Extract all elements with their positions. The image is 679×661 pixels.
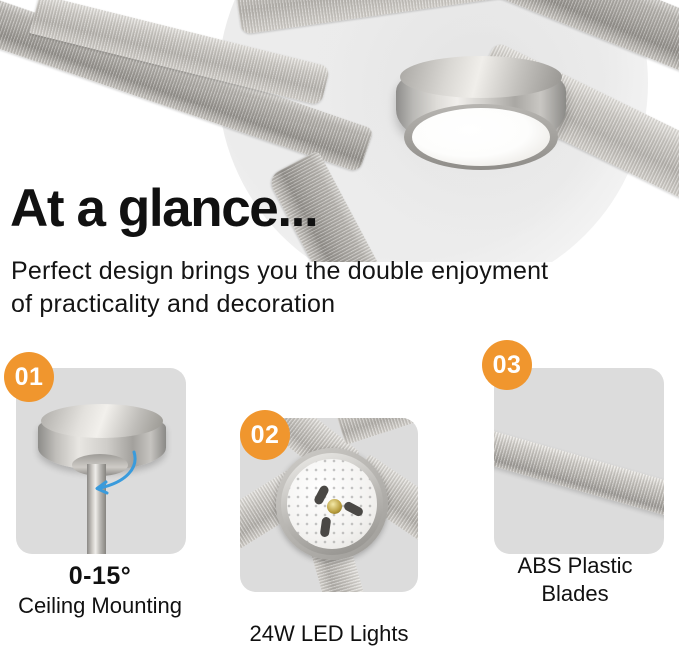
led-blade-2 xyxy=(333,418,418,445)
led-light-module xyxy=(276,448,388,560)
page-subtitle: Perfect design brings you the double enj… xyxy=(11,255,571,321)
feature-image-card-03 xyxy=(494,368,664,554)
feature-caption-01: 0-15° Ceiling Mounting xyxy=(0,560,200,620)
led-clip-2 xyxy=(343,500,365,517)
canopy-top-disc xyxy=(41,404,163,438)
feature-badge-01: 01 xyxy=(4,352,54,402)
feature-caption-02: 24W LED Lights xyxy=(228,620,430,648)
housing-top-disc xyxy=(400,56,562,98)
feature-caption-03: ABS Plastic Blades xyxy=(472,552,678,608)
feature-badge-02: 02 xyxy=(240,410,290,460)
page-title: At a glance... xyxy=(10,182,317,235)
abs-plastic-blade-image xyxy=(494,423,664,521)
feature-badge-03: 03 xyxy=(482,340,532,390)
led-clip-3 xyxy=(320,516,332,537)
infographic-page: At a glance... Perfect design brings you… xyxy=(0,0,679,661)
feature-caption-01-primary: 0-15° xyxy=(0,560,200,592)
hero-light-housing xyxy=(396,60,566,172)
tilt-angle-arrow-icon xyxy=(82,446,144,504)
feature-caption-02-secondary: 24W LED Lights xyxy=(228,620,430,648)
feature-caption-03-line1: ABS Plastic xyxy=(472,552,678,580)
led-center-socket xyxy=(327,499,342,514)
feature-caption-03-line2: Blades xyxy=(472,580,678,608)
led-diffuser xyxy=(287,459,377,549)
housing-light-lens xyxy=(412,108,550,166)
feature-caption-01-secondary: Ceiling Mounting xyxy=(0,592,200,620)
